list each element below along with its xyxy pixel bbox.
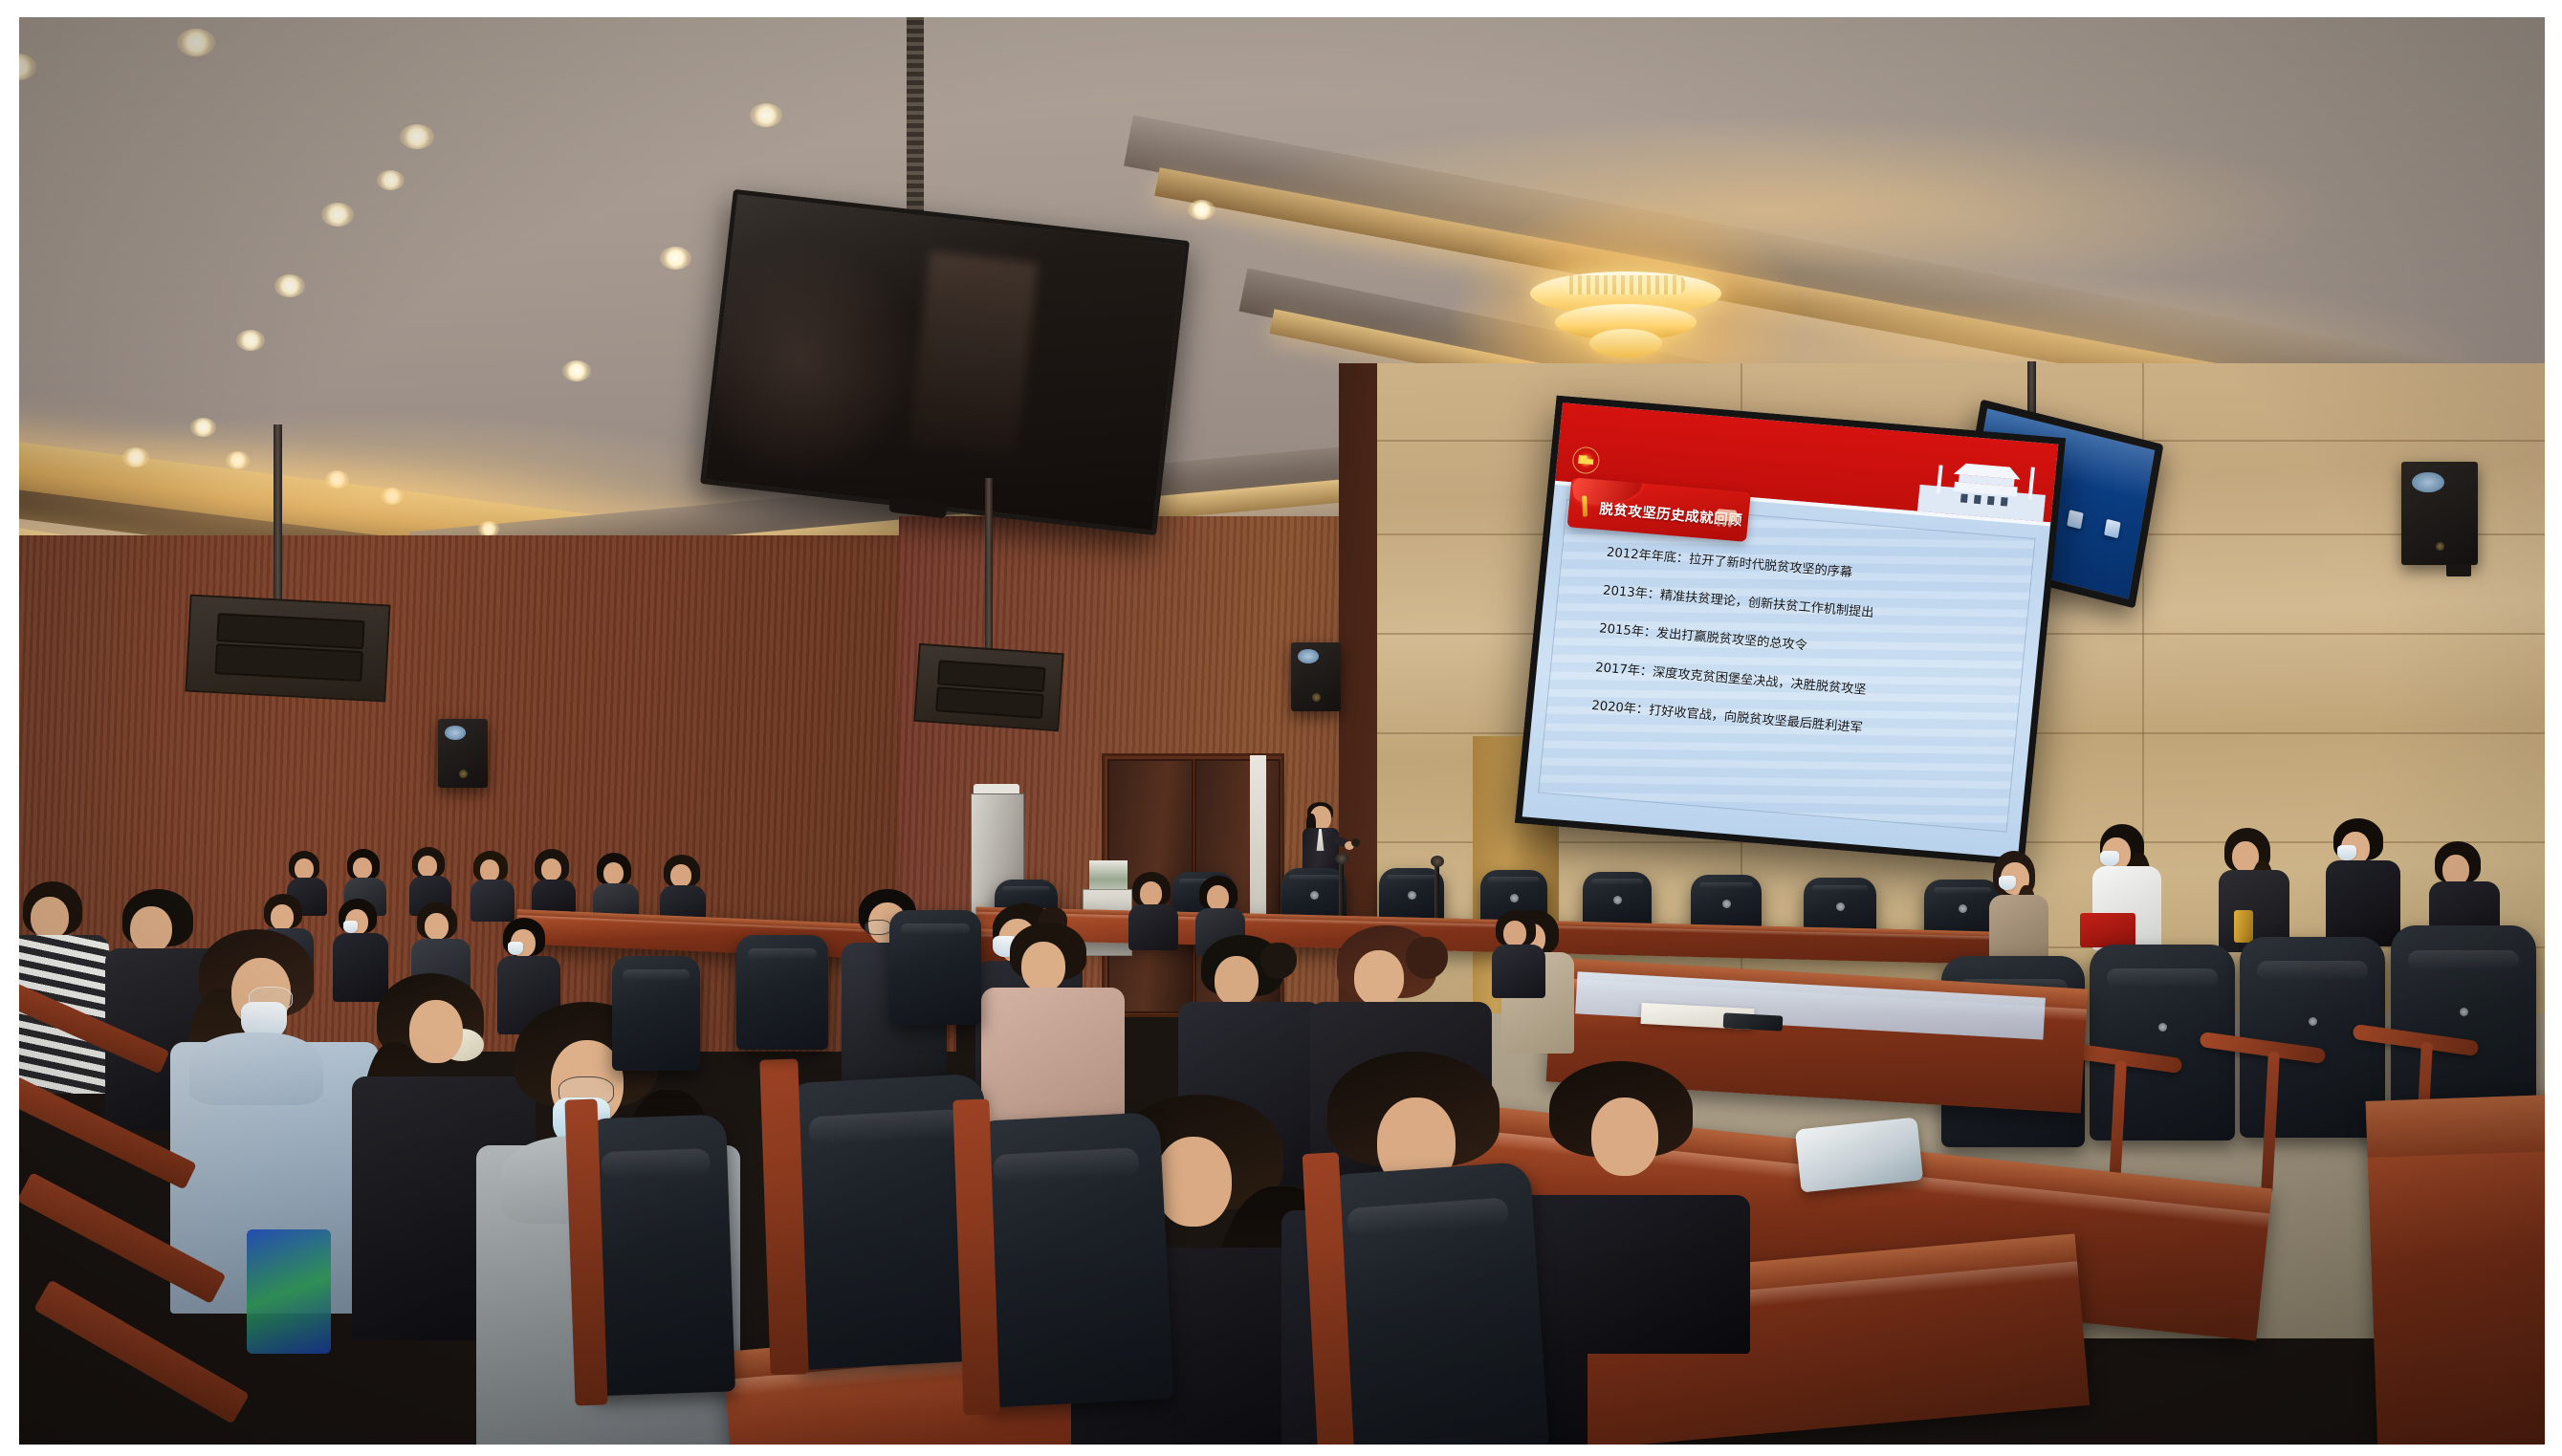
monitor-icon-3[interactable] [2067, 510, 2084, 529]
head [1155, 1137, 1232, 1227]
frame-border-left [0, 0, 19, 1456]
chair-stud [1959, 904, 1967, 913]
attendee [532, 849, 578, 920]
head [418, 856, 437, 877]
shirt-graphic-globe [247, 1229, 331, 1354]
chair-stud [1836, 902, 1845, 911]
face-mask [508, 942, 523, 955]
vesa-mount-plate [214, 643, 362, 682]
wall-speaker-right [2401, 462, 2478, 565]
head [480, 859, 499, 881]
ceiling-tv-mount-pole [907, 11, 924, 212]
chair-stud [1722, 900, 1731, 908]
chair[interactable] [968, 1112, 1173, 1408]
chair-stud [1613, 896, 1622, 904]
torso [471, 880, 515, 922]
gold-can [2234, 910, 2253, 943]
torso [2326, 860, 2400, 946]
handheld-microphone [1351, 838, 1360, 847]
head [1215, 956, 1259, 1006]
remote-control [1723, 1012, 1784, 1031]
tiananmen-gate-icon [1917, 446, 2049, 522]
head [295, 858, 314, 880]
head [1354, 950, 1404, 1006]
slide-line: 2013年：精准扶贫理论，创新扶贫工作机制提出 [1602, 584, 2013, 633]
chair[interactable] [612, 956, 700, 1071]
head [130, 906, 172, 952]
vesa-mount-plate [935, 686, 1044, 719]
head [271, 904, 294, 930]
desk-microphone-stand [1434, 863, 1439, 923]
face-mask [2100, 851, 2119, 866]
downlight [660, 247, 691, 270]
desk-top-surface [2366, 1094, 2562, 1158]
downlight [321, 203, 354, 227]
downlight [562, 360, 591, 381]
attendee [2219, 828, 2295, 952]
slide-line: 2017年：深度攻克贫困堡垒决战，决胜脱贫攻坚 [1595, 661, 2006, 709]
torso [1511, 1195, 1750, 1354]
chandelier [1526, 266, 1725, 365]
desk-microphone-stand [1339, 860, 1344, 924]
head [31, 897, 69, 939]
gate-badge-icon [1709, 505, 1743, 531]
chair-stud [2158, 1023, 2167, 1032]
head [670, 864, 691, 887]
chandelier-tier-3 [1589, 329, 1662, 358]
speaker-badge [445, 726, 466, 739]
head [603, 862, 624, 884]
slide-bullet-list: 2012年年底：拉开了新时代脱贫攻坚的序幕 2013年：精准扶贫理论，创新扶贫工… [1588, 546, 2017, 771]
chair[interactable] [1320, 1162, 1549, 1456]
attendee [1989, 851, 2054, 966]
attendee [1511, 1061, 1760, 1348]
slide-line: 2020年：打好收官战，向脱贫攻坚最后胜利进军 [1591, 699, 2003, 748]
face-mask [2337, 845, 2356, 860]
ceiling-tv-center[interactable] [700, 189, 1190, 535]
slide-line: 2012年年底：拉开了新时代脱贫攻坚的序幕 [1606, 546, 2017, 595]
head [409, 1000, 463, 1063]
attendee [2326, 818, 2406, 946]
attendee [471, 851, 516, 920]
torso [1128, 904, 1178, 950]
slide-line: 2015年：发出打赢脱贫攻坚的总攻令 [1598, 622, 2009, 671]
projection-screen[interactable]: 脱贫攻坚历史成就回顾 2012年年底：拉开了新时代脱贫攻坚的序幕 2013年：精… [1515, 396, 2066, 866]
slide: 脱贫攻坚历史成就回顾 2012年年底：拉开了新时代脱贫攻坚的序幕 2013年：精… [1522, 402, 2059, 858]
chair[interactable] [889, 910, 981, 1025]
chair-stud [1408, 891, 1416, 900]
downlight [236, 330, 265, 351]
chandelier-crystals [1565, 275, 1685, 294]
monitor-mount-pole-mid [985, 478, 993, 660]
downlight [325, 470, 349, 489]
downlight [122, 447, 149, 467]
hair-bun [1260, 943, 1297, 979]
head [1503, 921, 1526, 946]
frame-border-top [0, 0, 2562, 17]
head [1591, 1097, 1658, 1176]
head [1021, 942, 1065, 991]
ceiling-tv-mid-rear[interactable] [913, 643, 1063, 731]
speaker-badge [2412, 472, 2444, 493]
hair-bun [1406, 937, 1448, 979]
downlight [226, 451, 250, 469]
wall-speaker-left [438, 719, 488, 788]
eyeglasses [865, 920, 891, 935]
desk-microphone-head [1431, 856, 1444, 867]
head [425, 913, 449, 940]
chair-stud [2309, 1017, 2317, 1026]
hood [189, 1032, 323, 1105]
chair-stud [1310, 891, 1319, 900]
desk-microphone-head [1335, 853, 1348, 864]
downlight [177, 29, 215, 56]
chair-stud [2460, 1008, 2468, 1016]
attendee [1128, 872, 1180, 948]
head [1207, 885, 1229, 910]
downlight [1188, 200, 1215, 220]
chair-stud [1510, 894, 1519, 902]
head [541, 858, 561, 880]
face-mask [1999, 876, 2016, 890]
slide-title: 脱贫攻坚历史成就回顾 [1599, 498, 1712, 528]
monitor-icon-4[interactable] [2104, 519, 2121, 538]
conference-desk-bottom-right [2366, 1094, 2562, 1454]
monitor-mount-pole-left [274, 424, 282, 606]
tv-screen-reflection [909, 251, 1038, 457]
speaker-badge [1298, 649, 1319, 663]
speaker-mount-bracket [2446, 564, 2471, 576]
tote-bag [1795, 1117, 1923, 1192]
downlight [274, 274, 305, 297]
conference-room-photo: 脱贫攻坚历史成就回顾 2012年年底：拉开了新时代脱贫攻坚的序幕 2013年：精… [0, 0, 2562, 1456]
torso [1989, 895, 2048, 966]
downlight [190, 418, 216, 437]
frame-border-right [2545, 0, 2562, 1456]
ceiling-tv-left-rear[interactable] [185, 595, 390, 703]
downlight [381, 488, 404, 505]
wall-speaker-back [1291, 642, 1341, 711]
downlight [400, 124, 434, 149]
chair[interactable] [736, 935, 828, 1050]
head [353, 858, 372, 879]
torch-icon [1582, 495, 1588, 516]
head [1140, 881, 1162, 906]
slide-content-area: 脱贫攻坚历史成就回顾 2012年年底：拉开了新时代脱贫攻坚的序幕 2013年：精… [1538, 499, 2035, 833]
downlight [377, 170, 405, 190]
downlight [750, 103, 782, 127]
frame-border-bottom [0, 1445, 2562, 1456]
red-box [2080, 913, 2135, 947]
